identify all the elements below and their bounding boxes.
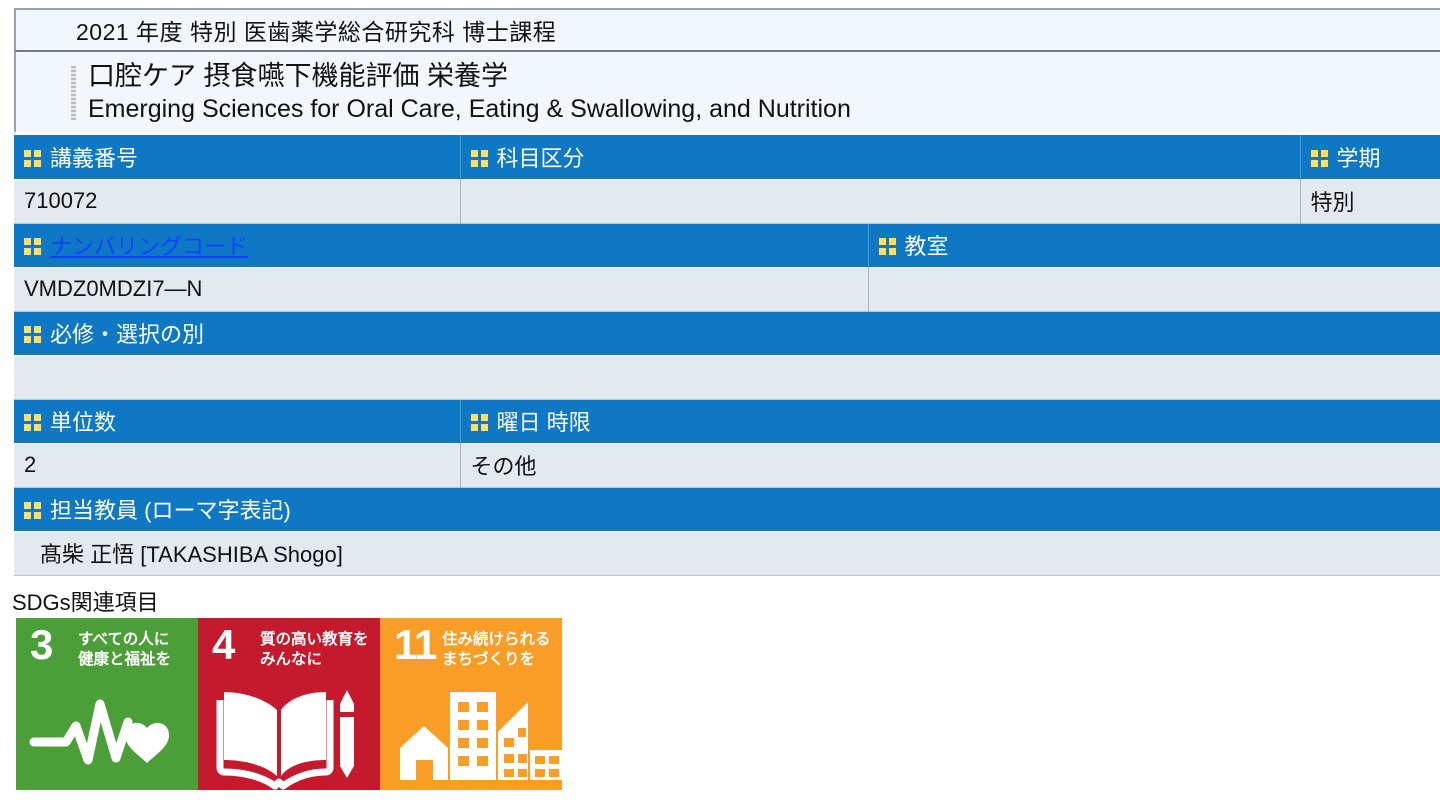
header-classroom: 教室 [868,223,1440,267]
header-numbering-code: ナンバリングコード [14,223,868,267]
header-term: 学期 [1300,135,1440,179]
title-accent-bar [71,66,76,120]
grid-icon [24,502,41,519]
header-credits-label: 単位数 [50,410,116,435]
value-classroom [868,267,1440,311]
sdg-goal-3-number: 3 [30,624,52,666]
grid-icon [879,238,896,255]
header-term-label: 学期 [1337,146,1381,171]
header-day-period: 曜日 時限 [460,399,1440,443]
value-credits: 2 [14,443,460,487]
value-instructor: 髙柴 正悟 [TAKASHIBA Shogo] [14,531,1440,575]
value-lecture-number: 710072 [14,179,460,223]
course-info-table: 講義番号 科目区分 学期 710072 特別 ナンバリングコード 教室 [14,135,1440,576]
header-lecture-number: 講義番号 [14,135,460,179]
table-row: 髙柴 正悟 [TAKASHIBA Shogo] [14,531,1440,575]
table-row: 必修・選択の別 [14,311,1440,355]
table-row [14,355,1440,399]
sdg-goal-4[interactable]: 4 質の高い教育を みんなに [198,618,380,790]
academic-year-text: 2021 年度 特別 医歯薬学総合研究科 博士課程 [16,13,556,47]
table-row: 講義番号 科目区分 学期 [14,135,1440,179]
sdg-goal-4-caption: 質の高い教育を みんなに [260,630,369,670]
table-row: 710072 特別 [14,179,1440,223]
value-subject-category [460,179,1300,223]
table-row: VMDZ0MDZI7—N [14,267,1440,311]
table-row: 単位数 曜日 時限 [14,399,1440,443]
numbering-code-link[interactable]: ナンバリングコード [50,234,248,259]
header-instructor-label: 担当教員 (ローマ字表記) [50,498,291,523]
value-required-elective [14,355,1440,399]
value-term: 特別 [1300,179,1440,223]
sdg-goal-11-number: 11 [394,624,436,666]
sdgs-icon-row: 3 すべての人に 健康と福祉を 4 質の高い教育を みんなに 11 住み続けられ… [16,618,562,790]
table-row: 担当教員 (ローマ字表記) [14,487,1440,531]
header-day-period-label: 曜日 時限 [497,410,591,435]
sdg-goal-11[interactable]: 11 住み続けられる まちづくりを [380,618,562,790]
grid-icon [24,326,41,343]
header-credits: 単位数 [14,399,460,443]
grid-icon [24,150,41,167]
table-row: ナンバリングコード 教室 [14,223,1440,267]
header-required-elective-label: 必修・選択の別 [50,322,204,347]
header-required-elective: 必修・選択の別 [14,311,1440,355]
grid-icon [471,150,488,167]
grid-icon [24,414,41,431]
value-numbering-code: VMDZ0MDZI7—N [14,267,868,311]
course-title-block: 口腔ケア 摂食嚥下機能評価 栄養学 Emerging Sciences for … [14,52,1440,132]
header-instructor: 担当教員 (ローマ字表記) [14,487,1440,531]
grid-icon [1311,150,1328,167]
syllabus-page: 2021 年度 特別 医歯薬学総合研究科 博士課程 口腔ケア 摂食嚥下機能評価 … [0,0,1440,810]
header-lecture-number-label: 講義番号 [50,146,138,171]
sdg-goal-4-number: 4 [212,624,234,666]
header-classroom-label: 教室 [905,234,949,259]
sdg-goal-3[interactable]: 3 すべての人に 健康と福祉を [16,618,198,790]
header-subject-category-label: 科目区分 [497,146,585,171]
sdg-goal-11-caption: 住み続けられる まちづくりを [442,630,551,670]
header-subject-category: 科目区分 [460,135,1300,179]
sdg-goal-3-caption: すべての人に 健康と福祉を [78,630,171,670]
academic-year-bar: 2021 年度 特別 医歯薬学総合研究科 博士課程 [14,8,1440,52]
sdgs-section-label: SDGs関連項目 [12,585,159,617]
course-title-ja: 口腔ケア 摂食嚥下機能評価 栄養学 [54,59,1440,93]
book-pencil-icon [198,674,380,790]
course-title-en: Emerging Sciences for Oral Care, Eating … [54,93,1440,126]
grid-icon [471,414,488,431]
city-buildings-icon [380,674,562,790]
heart-ecg-icon [16,674,198,790]
grid-icon [24,238,41,255]
table-row: 2 その他 [14,443,1440,487]
value-day-period: その他 [460,443,1440,487]
